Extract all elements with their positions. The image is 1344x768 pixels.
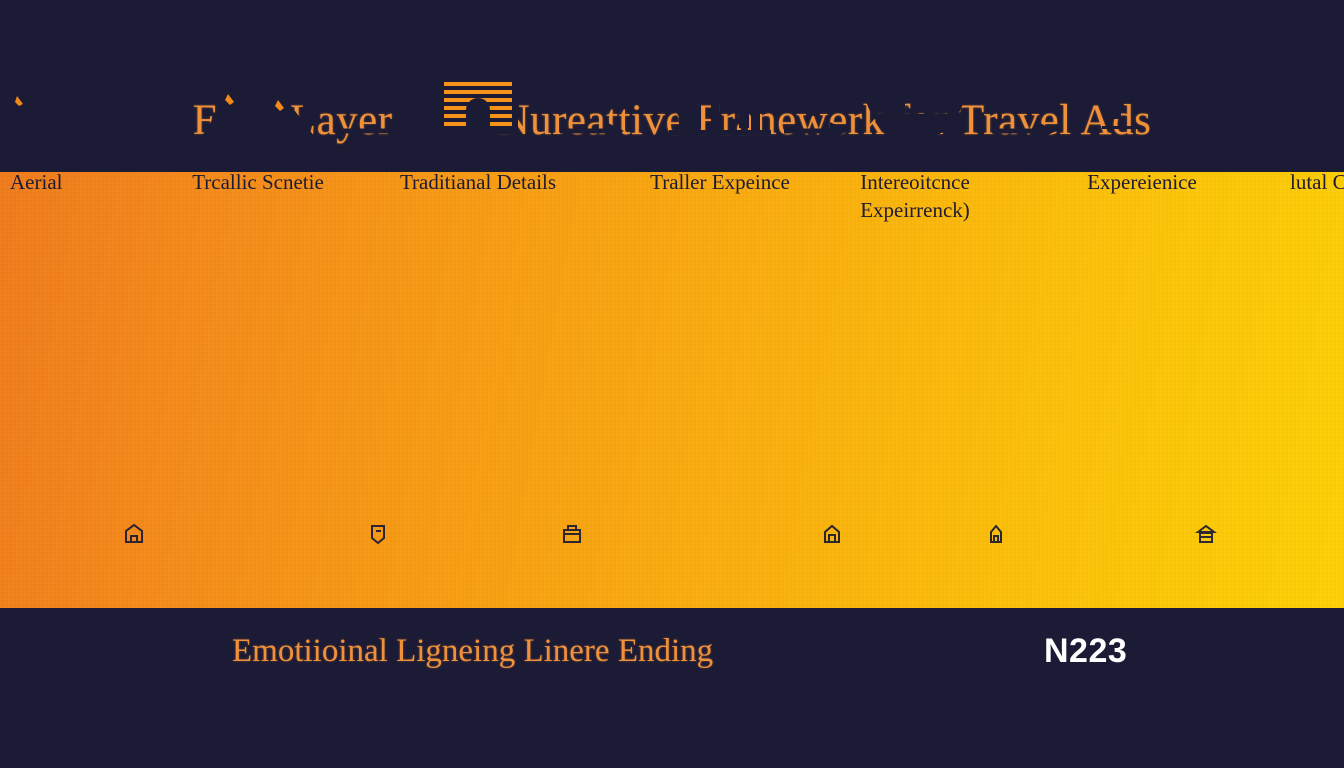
- stage-6: Expereienice: [1062, 0, 1222, 436]
- tag-icon-1: [120, 520, 148, 548]
- stage-3: Traditianal Details: [396, 0, 560, 436]
- stage-7-label: lutal Cu: [1276, 168, 1344, 196]
- stage-4-label: Traller Expeince: [632, 168, 808, 196]
- stage-2: Trcallic Scnetie: [176, 0, 340, 436]
- footer-band: [0, 608, 1344, 768]
- poster-canvas: Four-LayerNureattive Franewerk for Trave…: [0, 0, 1344, 768]
- stage-4: Traller Expeince: [632, 0, 808, 436]
- arrow-right-icon-5: [990, 118, 1060, 144]
- stars-mountain-icon: [1062, 40, 1222, 140]
- stage-7: lutal Cu: [1276, 0, 1344, 436]
- stage-1: Aerial: [0, 0, 106, 436]
- stage-1-label: Aerial: [0, 168, 150, 196]
- monument-icon: [1276, 40, 1344, 140]
- stage-5-label: Intereoitcnce Expeirrenck): [840, 168, 990, 224]
- footer-code: N223: [1044, 632, 1127, 671]
- mountain-peak-icon: [176, 40, 340, 140]
- stage-6-label: Expereienice: [1062, 168, 1222, 196]
- tag-icon-5: [982, 520, 1010, 548]
- stage-2-label: Trcallic Scnetie: [176, 168, 340, 196]
- arrow-right-icon-1: [84, 118, 154, 144]
- stage-3-label: Traditianal Details: [396, 168, 560, 196]
- tag-icon-6: [1192, 520, 1220, 548]
- stage-5: Intereoitcnce Expeirrenck): [840, 0, 990, 436]
- circle-scene-icon: [840, 40, 990, 140]
- arrow-right-icon-3: [558, 118, 628, 144]
- tag-icon-2: [364, 520, 392, 548]
- temple-building-icon: [396, 40, 560, 140]
- tag-icon-3: [558, 520, 586, 548]
- tag-icon-4: [818, 520, 846, 548]
- footer-caption: Emotiioinal Ligneing Linere Ending: [232, 633, 713, 670]
